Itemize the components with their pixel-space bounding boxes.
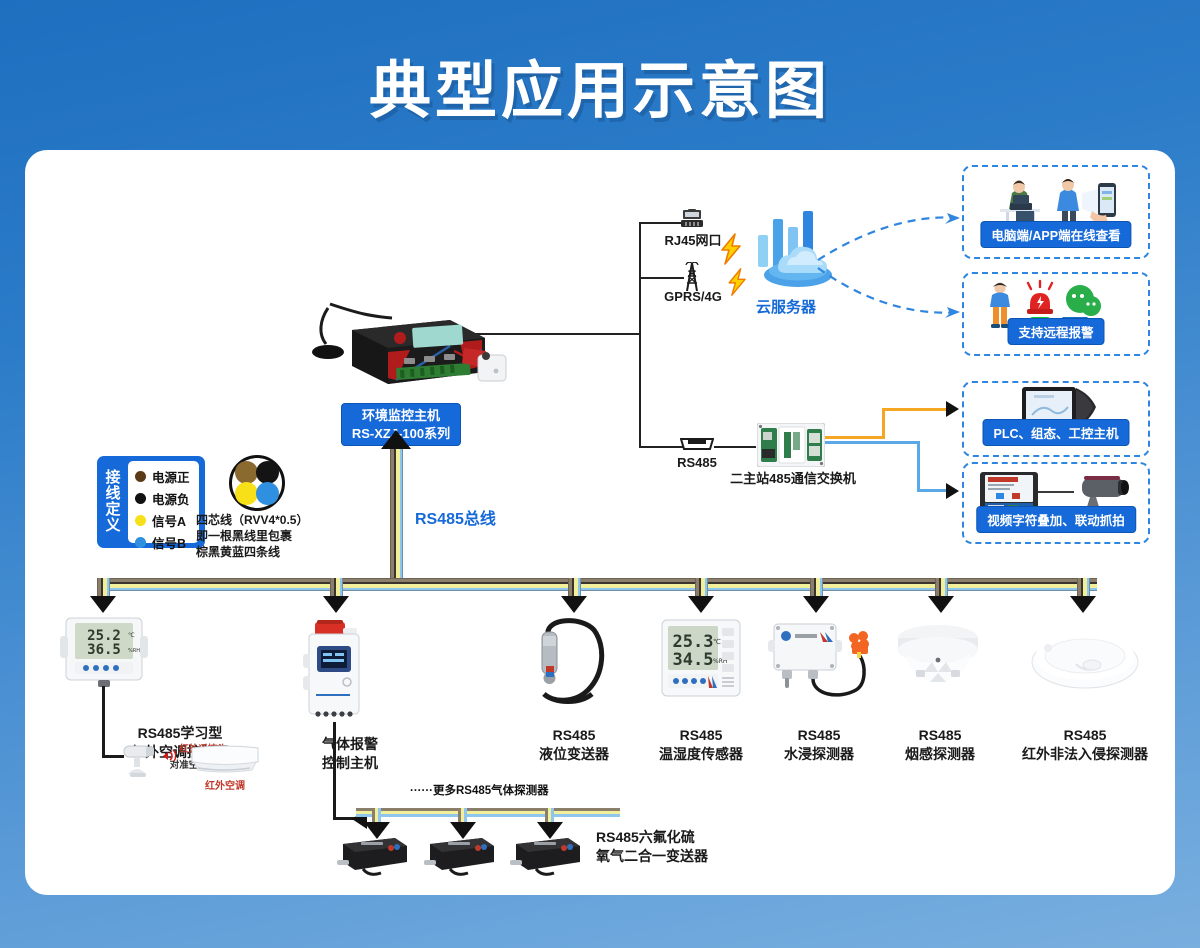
uplink-branch-gprs	[639, 277, 684, 279]
legend-row-power-neg: 电源负	[135, 489, 190, 508]
rs485-port-icon	[680, 435, 714, 451]
uplink-label-rs485: RS485	[653, 454, 741, 472]
legend-label-power-neg: 电源负	[152, 489, 190, 508]
switch-arrow-video	[946, 483, 959, 499]
rs485-switch-device	[757, 423, 825, 467]
bus-arrow-to-host	[381, 430, 411, 449]
wiring-legend-title-char-2: 线	[105, 486, 120, 502]
device-label-gas-alarm-host: 气体报警 控制主机	[298, 735, 402, 773]
cable-core-blue	[256, 482, 279, 505]
switch-wire-orange-3	[882, 408, 952, 411]
panel-caption-video-overlay: 视频字符叠加、联动抓拍	[976, 506, 1136, 533]
legend-dot-signal-b	[135, 537, 146, 548]
air-conditioner-label: 红外空调	[190, 780, 260, 794]
rs485-bus-vertical	[390, 448, 403, 584]
legend-row-power-pos: 电源正	[135, 467, 190, 486]
cable-core-black	[256, 461, 279, 484]
legend-row-signal-a: 信号A	[135, 511, 190, 530]
rj45-icon	[679, 209, 705, 229]
switch-wire-blue-1	[825, 441, 920, 444]
diagram-root: 典型应用示意图 RJ45网口 GPRS/4G	[0, 0, 1200, 948]
device-water-leak-detector	[768, 618, 878, 704]
legend-label-power-pos: 电源正	[152, 467, 190, 486]
air-conditioner-unit	[190, 744, 260, 778]
panel-video-overlay[interactable]: 视频字符叠加、联动抓拍	[962, 462, 1150, 544]
panel-plc-host[interactable]: PLC、组态、工控主机	[962, 381, 1150, 457]
switch-wire-orange-1	[825, 436, 885, 439]
device-temp-humidity-sensor: 25.3 ℃ 34.5 %RH	[660, 618, 742, 698]
legend-dot-power-neg	[135, 493, 146, 504]
gas-branch-wire-v	[333, 722, 336, 820]
legend-row-signal-b: 信号B	[135, 533, 190, 552]
device-gas-alarm-host	[303, 614, 365, 722]
bus-drop-arrow-6	[928, 596, 954, 613]
panel-remote-alarm[interactable]: 支持远程报警	[962, 272, 1150, 356]
switch-label: 二主站485通信交换机	[713, 470, 873, 488]
wiring-legend: 接 线 定 义 电源正 电源负 信号A 信号B	[97, 456, 205, 548]
device-label-temp-humidity-sensor: RS485 温湿度传感器	[637, 726, 765, 764]
uplink-trunk	[639, 222, 641, 447]
gas-detector-device-2	[424, 832, 500, 876]
bus-drop-arrow-1	[90, 596, 116, 613]
bus-drop-arrow-4	[688, 596, 714, 613]
four-core-cable-icon	[229, 455, 285, 511]
wiring-legend-title-char-1: 接	[105, 470, 120, 486]
svg-text:34.5: 34.5	[673, 650, 714, 670]
wiring-legend-title: 接 线 定 义	[102, 461, 124, 543]
bus-drop-arrow-3	[561, 596, 587, 613]
gas-detector-ribbon-1	[356, 808, 446, 817]
bus-drop-arrow-2	[323, 596, 349, 613]
legend-dot-signal-a	[135, 515, 146, 526]
device-level-transmitter	[530, 614, 616, 714]
switch-wire-orange-2	[882, 408, 885, 439]
bus-drop-arrow-7	[1070, 596, 1096, 613]
device-label-smoke-detector: RS485 烟感探测器	[878, 726, 1002, 764]
svg-text:℃: ℃	[713, 638, 721, 646]
switch-arrow-plc	[946, 401, 959, 417]
device-smoke-detector	[890, 620, 986, 698]
page-title: 典型应用示意图	[0, 40, 1200, 130]
device-ir-ac-controller: 25.2 ℃ 36.5 %RH	[60, 616, 148, 688]
cable-note: 四芯线（RVV4*0.5） 即一根黑线里包裹 棕黑黄蓝四条线	[196, 512, 336, 561]
panel-online-view[interactable]: 电脑端/APP端在线查看	[962, 165, 1150, 259]
gas-detector-device-3	[510, 832, 586, 876]
gas-detector-device-1	[337, 832, 413, 876]
cable-core-yellow	[235, 482, 258, 505]
svg-text:℃: ℃	[128, 632, 135, 639]
svg-text:%RH: %RH	[128, 648, 140, 654]
svg-text:25.3: 25.3	[673, 632, 714, 652]
ir-controller-wire-v	[102, 686, 105, 758]
wiring-legend-title-char-4: 义	[105, 518, 120, 534]
ir-emitter-head	[118, 740, 164, 780]
rs485-bus-label: RS485总线	[415, 505, 496, 529]
gas-more-detectors-label: ······更多RS485气体探测器	[410, 782, 549, 798]
rs485-to-switch-line	[714, 446, 756, 448]
svg-text:36.5: 36.5	[87, 642, 121, 658]
wiring-legend-rows: 电源正 电源负 信号A 信号B	[128, 461, 199, 543]
panel-caption-plc-host: PLC、组态、工控主机	[982, 419, 1129, 446]
device-label-level-transmitter: RS485 液位变送器	[512, 726, 636, 764]
switch-wire-blue-2	[917, 441, 920, 491]
cable-core-brown	[235, 461, 258, 484]
cloud-server-label: 云服务器	[756, 296, 816, 317]
alarm-siren-device	[452, 345, 514, 387]
device-label-ir-intrusion-detector: RS485 红外非法入侵探测器	[1003, 726, 1167, 764]
gas-branch-label: RS485六氟化硫 氧气二合一变送器	[596, 828, 766, 866]
legend-label-signal-b: 信号B	[152, 533, 186, 552]
legend-dot-power-pos	[135, 471, 146, 482]
device-ir-intrusion-detector	[1030, 630, 1140, 694]
wiring-legend-title-char-3: 定	[105, 502, 120, 518]
panel-caption-remote-alarm: 支持远程报警	[1007, 318, 1104, 345]
device-label-water-leak-detector: RS485 水浸探测器	[757, 726, 881, 764]
legend-label-signal-a: 信号A	[152, 511, 186, 530]
panel-caption-online-view: 电脑端/APP端在线查看	[980, 221, 1131, 248]
bus-drop-arrow-5	[803, 596, 829, 613]
